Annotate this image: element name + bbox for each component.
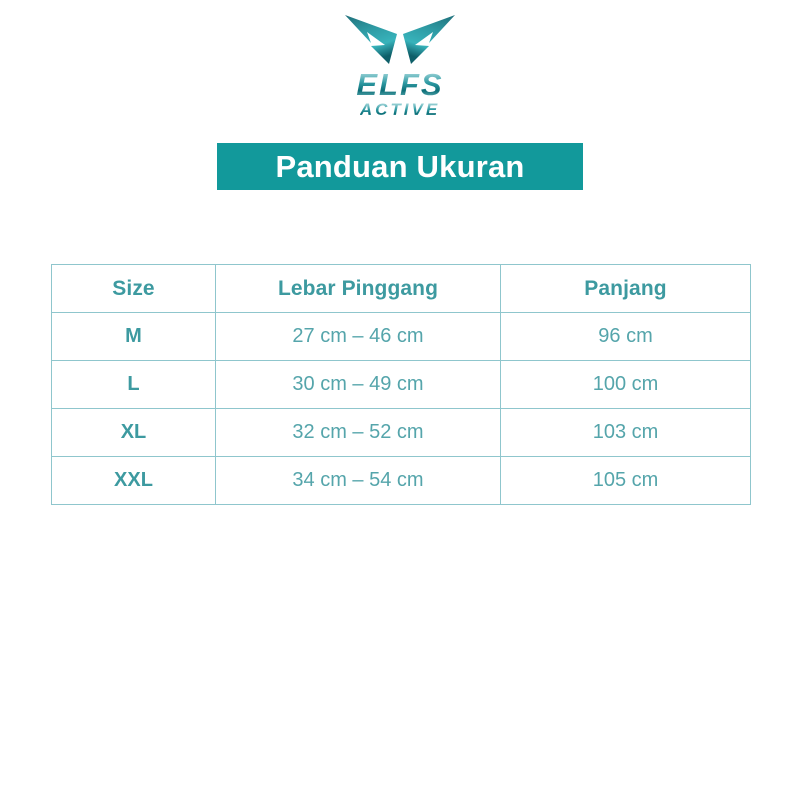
table-body: M 27 cm – 46 cm 96 cm L 30 cm – 49 cm 10…: [52, 313, 751, 505]
cell-waist: 32 cm – 52 cm: [216, 409, 501, 457]
cell-length: 105 cm: [501, 457, 751, 505]
table-row: XXL 34 cm – 54 cm 105 cm: [52, 457, 751, 505]
table-header-row: Size Lebar Pinggang Panjang: [52, 265, 751, 313]
cell-size: XXL: [52, 457, 216, 505]
column-header-length: Panjang: [501, 265, 751, 313]
cell-length: 96 cm: [501, 313, 751, 361]
elfs-wings-logo-icon: [341, 12, 459, 68]
brand-name: ELFS: [356, 69, 443, 100]
cell-size: L: [52, 361, 216, 409]
brand-logo: ELFS ACTIVE: [0, 12, 800, 118]
table-row: L 30 cm – 49 cm 100 cm: [52, 361, 751, 409]
cell-size: XL: [52, 409, 216, 457]
cell-waist: 30 cm – 49 cm: [216, 361, 501, 409]
column-header-waist: Lebar Pinggang: [216, 265, 501, 313]
size-guide-page: ELFS ACTIVE Panduan Ukuran Size Lebar Pi…: [0, 0, 800, 800]
table-row: XL 32 cm – 52 cm 103 cm: [52, 409, 751, 457]
table-header: Size Lebar Pinggang Panjang: [52, 265, 751, 313]
cell-size: M: [52, 313, 216, 361]
cell-waist: 34 cm – 54 cm: [216, 457, 501, 505]
cell-length: 100 cm: [501, 361, 751, 409]
page-title-banner: Panduan Ukuran: [217, 143, 583, 190]
column-header-size: Size: [52, 265, 216, 313]
page-title: Panduan Ukuran: [275, 149, 524, 185]
cell-length: 103 cm: [501, 409, 751, 457]
brand-tagline: ACTIVE: [360, 101, 440, 118]
brand-wordmark: ELFS ACTIVE: [356, 69, 443, 118]
size-chart-table: Size Lebar Pinggang Panjang M 27 cm – 46…: [51, 264, 751, 505]
cell-waist: 27 cm – 46 cm: [216, 313, 501, 361]
table-row: M 27 cm – 46 cm 96 cm: [52, 313, 751, 361]
